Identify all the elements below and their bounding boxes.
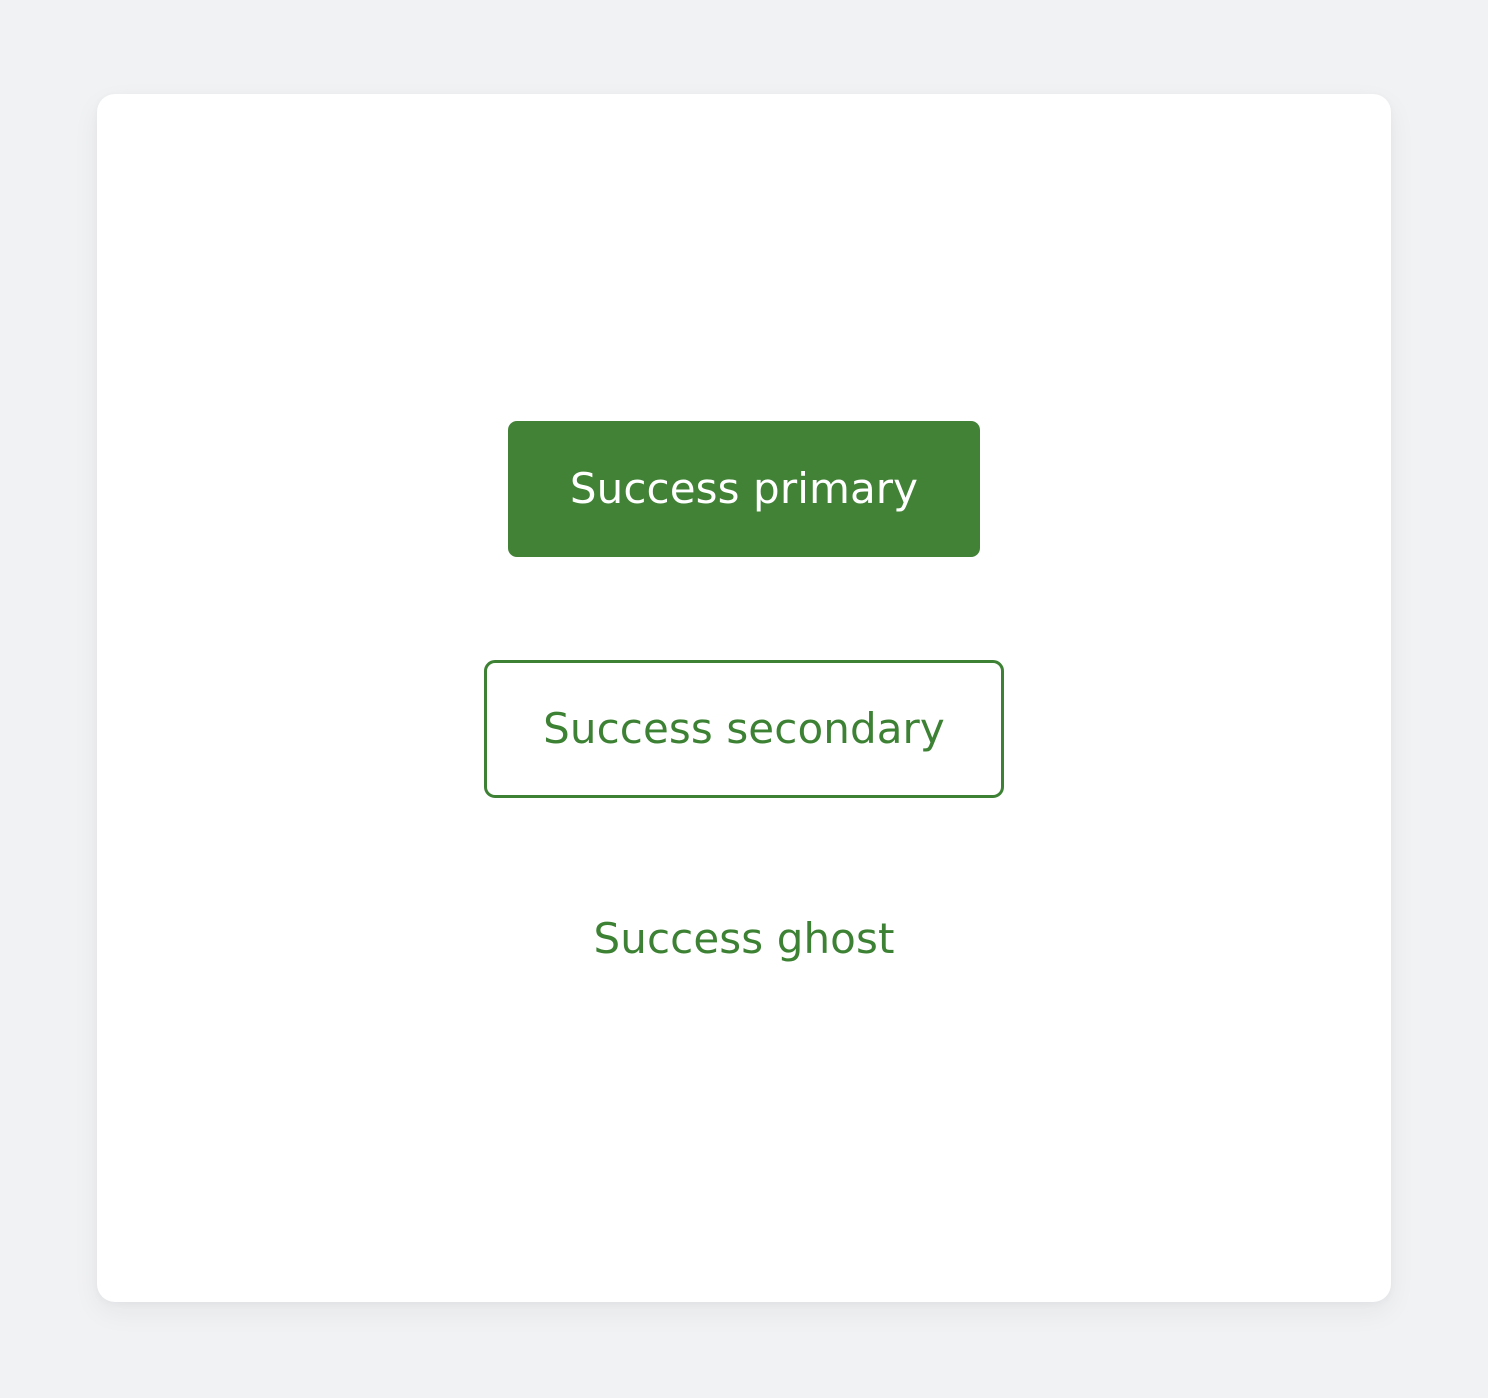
success-secondary-button[interactable]: Success secondary bbox=[484, 660, 1004, 798]
success-ghost-button[interactable]: Success ghost bbox=[594, 902, 894, 976]
button-stack: Success primary Success secondary Succes… bbox=[97, 94, 1391, 1302]
viewport: Success primary Success secondary Succes… bbox=[0, 0, 1488, 1398]
button-showcase-card: Success primary Success secondary Succes… bbox=[97, 94, 1391, 1302]
success-primary-button[interactable]: Success primary bbox=[508, 421, 980, 557]
